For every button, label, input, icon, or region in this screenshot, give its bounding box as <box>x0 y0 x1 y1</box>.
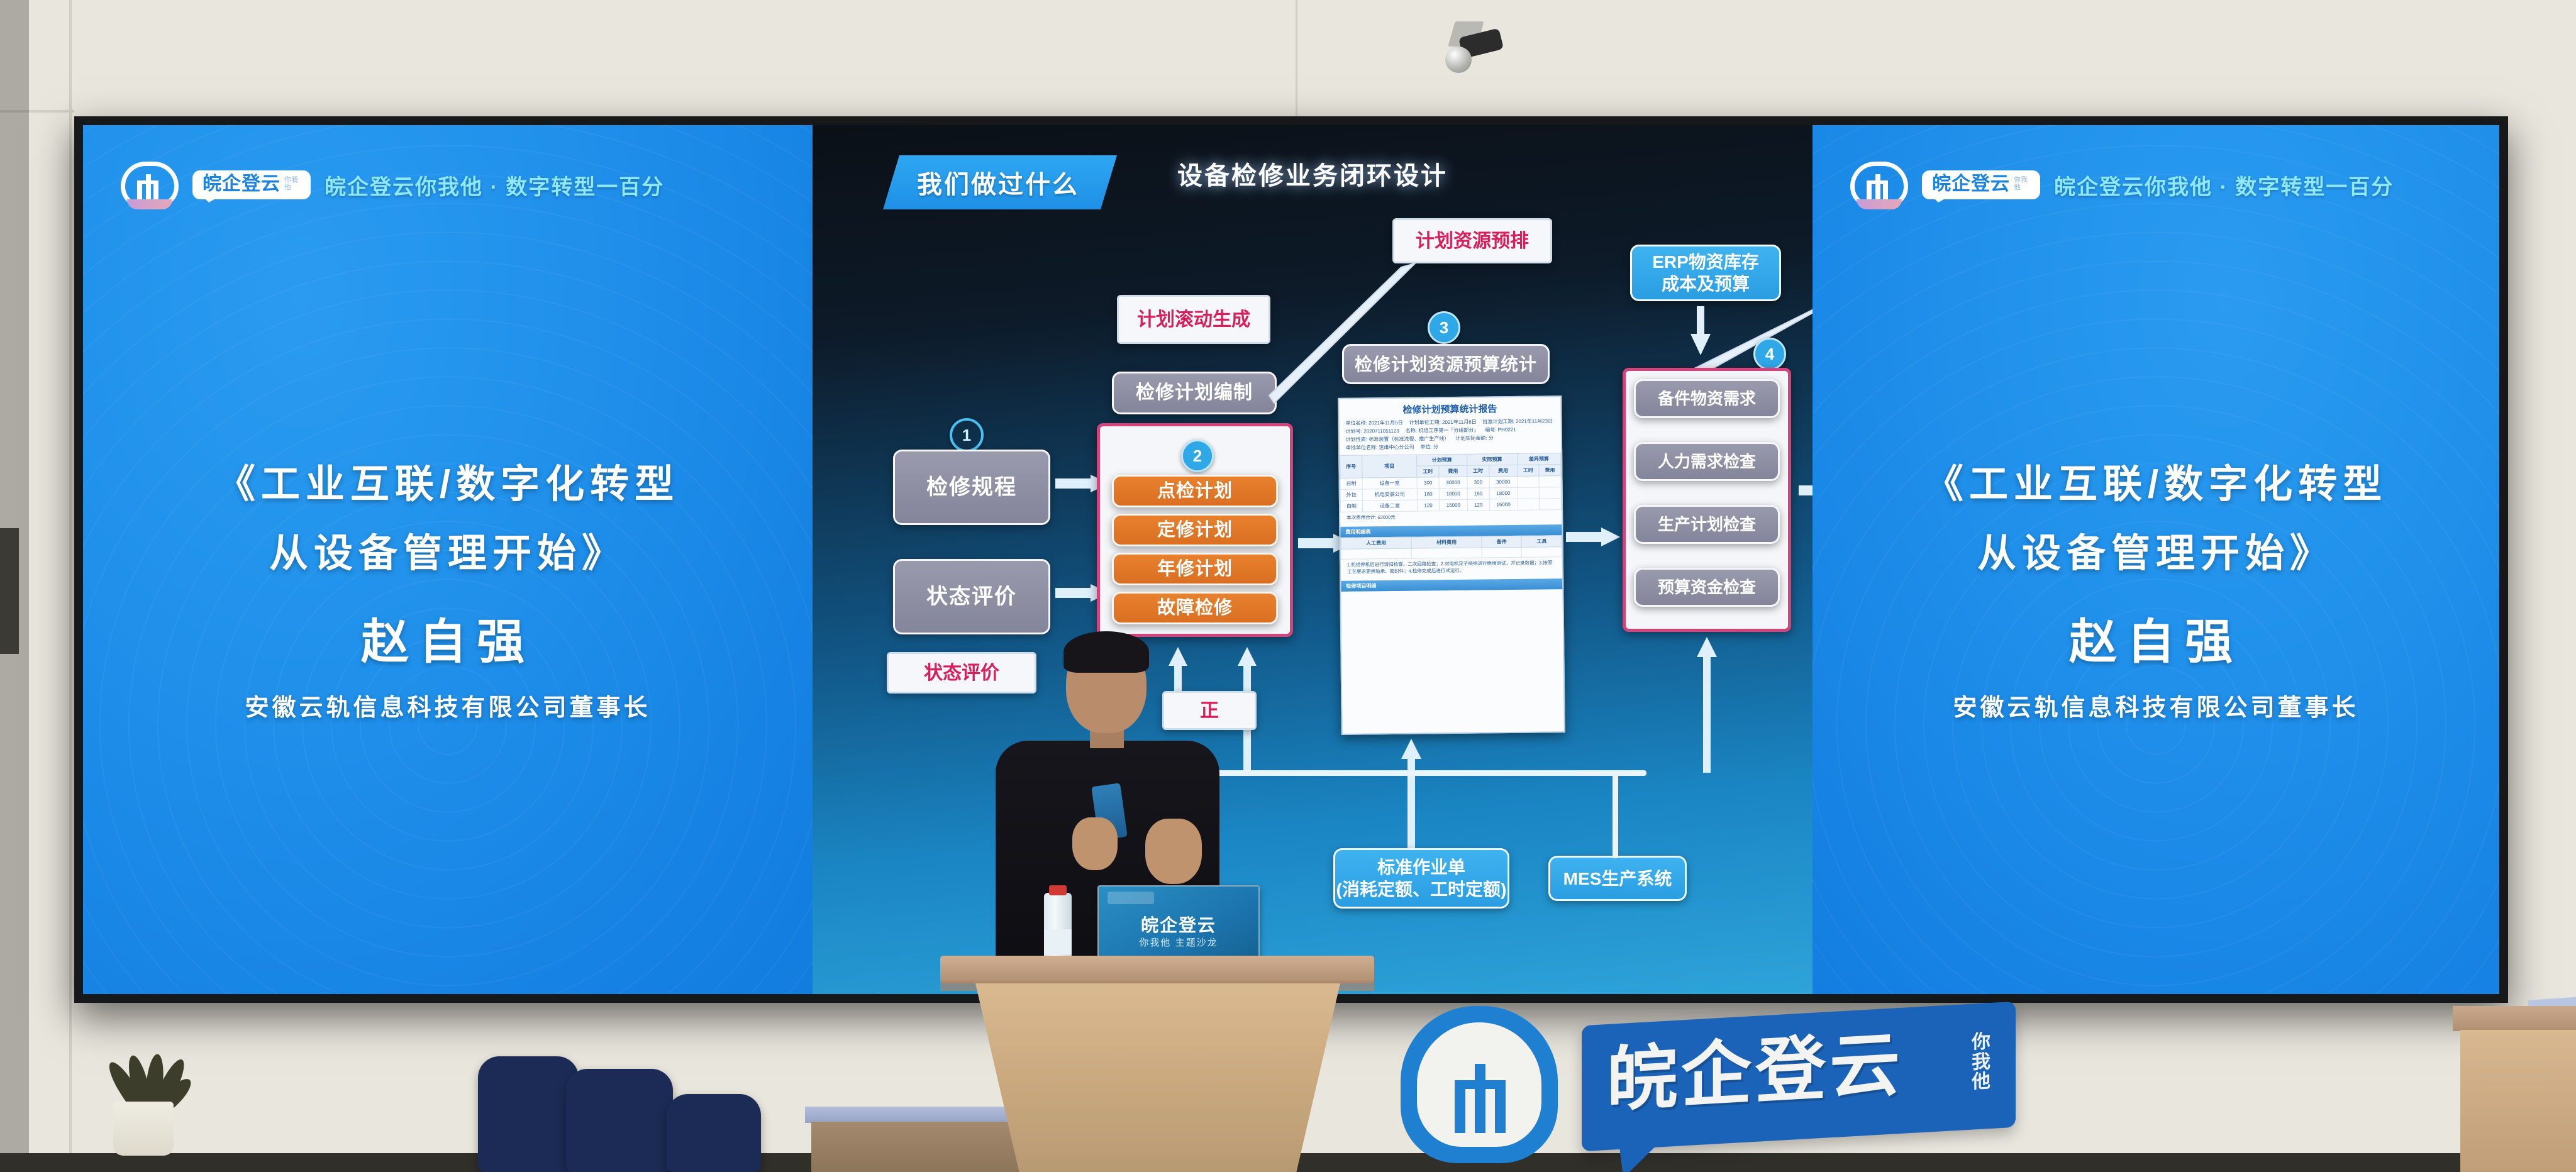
plan-item-2: 年修计划 <box>1112 553 1278 585</box>
logo-pill: 皖企登云 你我他 <box>192 170 311 199</box>
deck-title-line2: 从设备管理开始》 <box>83 521 813 578</box>
cell: 18000 <box>1489 487 1518 499</box>
resource-item-0: 备件物资需求 <box>1634 379 1780 418</box>
cell <box>1518 499 1540 510</box>
plan-item-1: 定修计划 <box>1112 514 1278 546</box>
report-group-0: 计划预算 <box>1417 454 1467 466</box>
report-total-line: 本次费用合计: 63000元 <box>1340 510 1562 524</box>
cell <box>1518 487 1540 499</box>
report-meta-6: 计划性质: 标准装置（标准流程、推广生产线） <box>1346 435 1450 443</box>
report-s2-col-1: 材料费用 <box>1411 536 1482 548</box>
wall-seam-left <box>69 0 72 1172</box>
deck-title-line2-right: 从设备管理开始》 <box>1813 521 2499 578</box>
report-table: 序号 项目 计划预算 实际预算 差异预算 工时 费用 工时 费用 工时 <box>1340 453 1562 512</box>
floor-standing-logo-sign: 皖企登云 你我他 <box>1393 1000 2079 1172</box>
floor-sign-cloud-icon <box>1401 1006 1558 1163</box>
node-status-evaluation: 状态评价 <box>893 559 1050 634</box>
report-col-1: 项目 <box>1362 455 1417 478</box>
cell: 15000 <box>1489 499 1518 510</box>
cell <box>1539 476 1561 487</box>
floor-sign-sub: 你我他 <box>1972 1031 1999 1092</box>
resource-item-3: 预算资金检查 <box>1634 568 1780 607</box>
resource-item-2: 生产计划检查 <box>1634 505 1780 544</box>
floor-sign-text: 皖企登云 <box>1607 1029 1904 1116</box>
report-meta-0: 单位名称: 2021年11月5日 <box>1346 419 1403 427</box>
speaker-name-right: 赵自强 <box>1813 603 2499 672</box>
report-col-2: 工时 <box>1417 466 1439 477</box>
audience-chair-1 <box>478 1056 579 1172</box>
report-group-2: 差异预算 <box>1517 453 1561 465</box>
logo-pill-text-right: 皖企登云 <box>1932 175 2010 194</box>
node-budget-statistics: 检修计划资源预算统计 <box>1342 344 1550 384</box>
report-s2-col-2: 备件 <box>1482 536 1522 548</box>
tagline-left: 皖企登云你我他 · 数字转型一百分 <box>325 170 664 201</box>
lectern-podium <box>940 956 1374 1172</box>
report-meta-list: 单位名称: 2021年11月5日 计划单位工期: 2021年11月6日 批准计划… <box>1340 417 1562 455</box>
arrow-report-to-resource <box>1566 528 1620 546</box>
potted-plant <box>83 998 203 1156</box>
report-note-text: 1.机组停机后进行清扫检查、二次回路检查；2.对电机定子绕组进行绝缘测试，并记录… <box>1341 557 1562 578</box>
security-camera-icon <box>1434 19 1509 75</box>
cell: 300 <box>1467 477 1489 488</box>
report-meta-1: 计划单位工期: 2021年11月6日 <box>1409 419 1477 426</box>
speaker-title-right: 安徽云轨信息科技有限公司董事长 <box>1813 688 2499 722</box>
cell <box>1539 487 1561 499</box>
cloud-logo-icon <box>121 162 179 208</box>
logo-pill-small-right: 你我他 <box>2014 177 2030 191</box>
resource-item-1: 人力需求检查 <box>1634 442 1780 481</box>
report-col-3: 费用 <box>1439 465 1467 477</box>
report-meta-8: 审批单位名称: 运维中心分公司 <box>1346 444 1414 451</box>
cell: 自制 <box>1340 500 1362 512</box>
hand-holding-mic <box>1072 817 1118 870</box>
step-badge-1: 1 <box>950 418 984 452</box>
cell: 机电安装公司 <box>1362 489 1418 500</box>
report-col-5: 费用 <box>1489 465 1517 476</box>
logo-pill-small: 你我他 <box>284 177 301 191</box>
speaker-title-left: 安徽云轨信息科技有限公司董事长 <box>83 688 813 722</box>
cell: 300 <box>1417 477 1439 489</box>
report-col-7: 费用 <box>1539 465 1561 476</box>
budget-report-screenshot: 检修计划预算统计报告 单位名称: 2021年11月5日 计划单位工期: 2021… <box>1338 395 1565 735</box>
step-badge-2: 2 <box>1181 440 1214 472</box>
speaker-name-left: 赵自强 <box>83 603 813 672</box>
brand-lockup-right: 皖企登云 你我他 皖企登云你我他 · 数字转型一百分 <box>1850 162 2394 208</box>
wall-seam-mid <box>1296 0 1297 119</box>
cell: 外包 <box>1340 489 1362 500</box>
presentation-slide: 我们做过什么 设备检修业务闭环设计 1 检修规程 状态评价 状态评价 计划滚动生… <box>813 125 1813 994</box>
report-meta-3: 计划号: 2020711051123 <box>1346 428 1399 435</box>
node-mes-system: MES生产系统 <box>1548 856 1687 901</box>
side-desk <box>2453 1006 2576 1172</box>
report-s2-col-0: 人工费用 <box>1341 537 1411 549</box>
report-title: 检修计划预算统计报告 <box>1339 397 1560 420</box>
hand-gesturing <box>1145 819 1202 884</box>
deck-title-line1-right: 《工业互联/数字化转型 <box>1813 452 2499 509</box>
wall-fixture <box>0 528 19 654</box>
cell: 15000 <box>1439 499 1467 511</box>
report-meta-7: 计划实际金额: 分 <box>1455 434 1494 442</box>
report-group-1: 实际预算 <box>1467 453 1518 465</box>
brand-lockup-left: 皖企登云 你我他 皖企登云你我他 · 数字转型一百分 <box>121 162 664 208</box>
left-branding-panel: 皖企登云 你我他 皖企登云你我他 · 数字转型一百分 《工业互联/数字化转型 从… <box>83 125 813 994</box>
audience-chair-2 <box>566 1069 673 1172</box>
tagline-right: 皖企登云你我他 · 数字转型一百分 <box>2054 170 2394 201</box>
plan-item-0: 点检计划 <box>1112 475 1278 507</box>
laptop-brand-text: 皖企登云 <box>1099 912 1258 937</box>
led-video-wall: 皖企登云 你我他 皖企登云你我他 · 数字转型一百分 《工业互联/数字化转型 从… <box>74 116 2508 1003</box>
right-branding-panel: 皖企登云 你我他 皖企登云你我他 · 数字转型一百分 《工业互联/数字化转型 从… <box>1813 125 2499 994</box>
plan-item-3: 故障检修 <box>1112 592 1278 624</box>
report-meta-9: 单位: 分 <box>1420 443 1438 450</box>
report-col-0: 序号 <box>1340 455 1362 478</box>
cell: 30000 <box>1439 477 1467 488</box>
step-badge-3: 3 <box>1428 311 1460 344</box>
logo-pill-text: 皖企登云 <box>203 175 280 194</box>
leader-line-resource-scheduling <box>1246 261 1561 418</box>
cell: 设备二室 <box>1362 500 1418 512</box>
step-badge-4: 4 <box>1753 338 1786 370</box>
arrow-up-to-resource <box>1697 637 1717 773</box>
photo-scene: 皖企登云 你我他 皖企登云你我他 · 数字转型一百分 《工业互联/数字化转型 从… <box>0 0 2576 1172</box>
arrow-resource-to-risk <box>1799 481 1813 500</box>
cell: 120 <box>1467 499 1489 511</box>
report-table-2: 人工费用 材料费用 备件 工具 <box>1341 535 1562 560</box>
cloud-logo-icon-right <box>1850 162 1908 208</box>
report-s2-col-3: 工具 <box>1521 536 1562 548</box>
deck-title-line1: 《工业互联/数字化转型 <box>83 452 813 509</box>
cell: 30000 <box>1489 476 1518 487</box>
cell: 180 <box>1417 489 1439 500</box>
report-section3-title: 检修项目明细 <box>1341 578 1562 592</box>
laptop-logo-icon <box>1108 892 1154 904</box>
report-meta-2: 批准计划工期: 2021年11月23日 <box>1483 417 1553 425</box>
cell: 180 <box>1467 488 1489 499</box>
slide-title: 设备检修业务闭环设计 <box>813 155 1813 192</box>
cell <box>1540 499 1562 510</box>
floor-sign-plate: 皖企登云 你我他 <box>1582 1002 2016 1152</box>
audience-chair-3 <box>667 1094 761 1172</box>
center-slide-panel: 我们做过什么 设备检修业务闭环设计 1 检修规程 状态评价 状态评价 计划滚动生… <box>813 125 1813 994</box>
node-repair-regulation: 检修规程 <box>893 450 1050 525</box>
report-meta-4: 名称: 机组工序第一「分组部分」 <box>1406 427 1479 434</box>
callout-resource-scheduling: 计划资源预排 <box>1392 218 1552 263</box>
cell: 120 <box>1418 500 1440 511</box>
report-col-4: 工时 <box>1467 465 1489 477</box>
node-standard-work-order: 标准作业单 (消耗定额、工时定额) <box>1333 848 1509 909</box>
arrow-up-to-report <box>1401 739 1421 851</box>
laptop-subtitle-text: 你我他 主题沙龙 <box>1099 936 1258 949</box>
cell <box>1518 476 1540 487</box>
connector-mes-riser <box>1613 770 1618 858</box>
logo-pill-right: 皖企登云 你我他 <box>1922 170 2040 199</box>
report-meta-5: 编号: PH0221 <box>1485 426 1516 434</box>
cell: 自制 <box>1340 478 1362 489</box>
report-col-6: 工时 <box>1517 465 1539 476</box>
cell: 18000 <box>1439 488 1467 499</box>
cell: 设备一室 <box>1362 477 1418 489</box>
